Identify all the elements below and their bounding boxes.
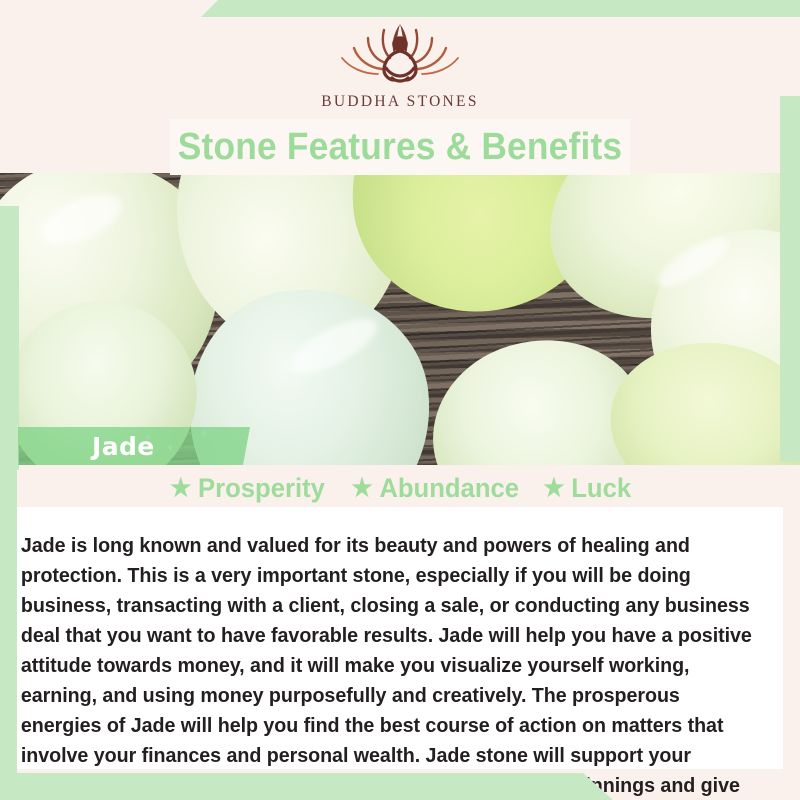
- stone-name-label: Jade: [92, 432, 155, 461]
- decorative-ribbon-right: [780, 96, 800, 462]
- section-title-plaque: Stone Features & Benefits: [170, 119, 630, 175]
- keyword-prosperity: ★ Prosperity: [170, 473, 325, 504]
- star-icon: ★: [544, 476, 565, 501]
- stone-name-badge: Jade: [18, 427, 250, 465]
- infographic-page: BUDDHA STONES Stone Features & Benefits …: [0, 0, 800, 800]
- star-icon: ★: [351, 476, 372, 501]
- brand-name: BUDDHA STONES: [321, 93, 479, 111]
- brand-header: BUDDHA STONES: [0, 0, 800, 120]
- description-text: Jade is long known and valued for its be…: [17, 527, 756, 800]
- keyword-strip: ★ Prosperity ★ Abundance ★ Luck: [0, 466, 800, 510]
- decorative-ribbon-left-upper: [0, 206, 19, 470]
- hero-image: [0, 173, 800, 465]
- decorative-ribbon-bottom: [0, 773, 620, 800]
- lotus-meditation-icon: [324, 18, 476, 90]
- decorative-ribbon-left-lower: [0, 470, 17, 775]
- brand-logo: BUDDHA STONES: [0, 18, 800, 111]
- keyword-luck: ★ Luck: [544, 473, 632, 504]
- keyword-label: Abundance: [379, 473, 519, 504]
- keyword-label: Luck: [572, 473, 632, 504]
- keyword-abundance: ★ Abundance: [351, 473, 519, 504]
- page-title: Stone Features & Benefits: [178, 126, 623, 169]
- keyword-label: Prosperity: [198, 473, 325, 504]
- star-icon: ★: [170, 476, 191, 501]
- description-panel: Jade is long known and valued for its be…: [17, 507, 783, 769]
